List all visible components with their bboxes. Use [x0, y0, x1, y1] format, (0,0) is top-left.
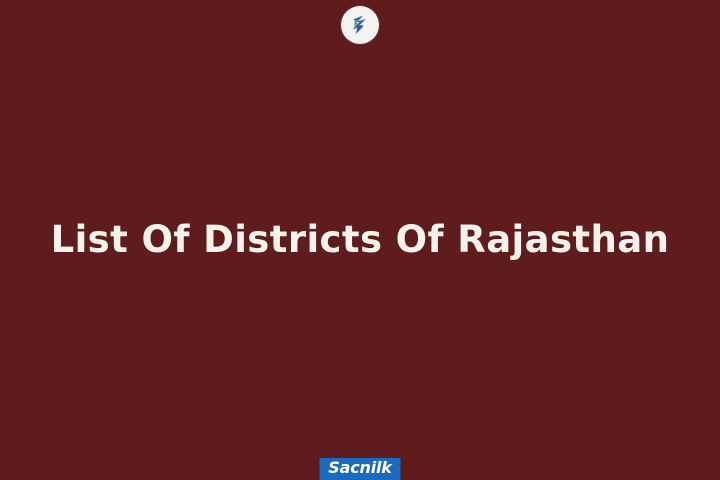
- sacnilk-watermark: Sacnilk: [320, 458, 401, 480]
- title-slide: List Of Districts Of Rajasthan Sacnilk: [0, 0, 720, 480]
- title-block: List Of Districts Of Rajasthan: [0, 0, 720, 480]
- watermark-brand-name: Sacnilk: [328, 458, 391, 477]
- sacnilk-lightning-circle-icon: [341, 6, 379, 44]
- page-title: List Of Districts Of Rajasthan: [51, 220, 670, 261]
